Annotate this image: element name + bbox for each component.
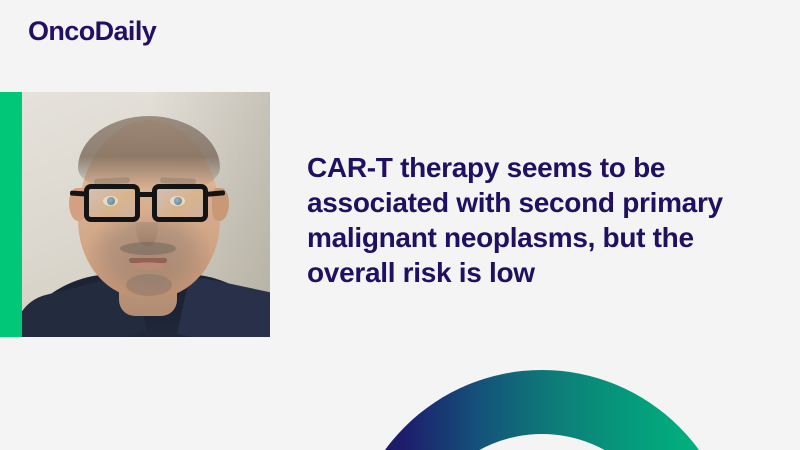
gradient-arc-svg	[348, 368, 736, 450]
gradient-arc-decoration	[348, 368, 736, 450]
headline: CAR-T therapy seems to be associated wit…	[307, 150, 757, 290]
headline-line-4: overall risk is low	[307, 255, 757, 290]
headline-line-2: associated with second primary	[307, 185, 757, 220]
glasses-bridge-icon	[138, 192, 154, 197]
photo-mustache	[120, 242, 176, 255]
portrait-photo	[22, 92, 270, 337]
slide-canvas: OncoDaily CAR-T t	[0, 0, 800, 450]
headline-line-3: malignant neoplasms, but the	[307, 220, 757, 255]
brand-logo[interactable]: OncoDaily	[28, 18, 156, 45]
headline-line-1: CAR-T therapy seems to be	[307, 150, 757, 185]
photo-lower-lip	[132, 262, 164, 270]
glasses-lens-right-icon	[152, 184, 208, 222]
photo-chin-beard	[126, 274, 172, 296]
glasses-lens-left-icon	[84, 184, 140, 222]
green-accent-bar	[0, 92, 22, 337]
